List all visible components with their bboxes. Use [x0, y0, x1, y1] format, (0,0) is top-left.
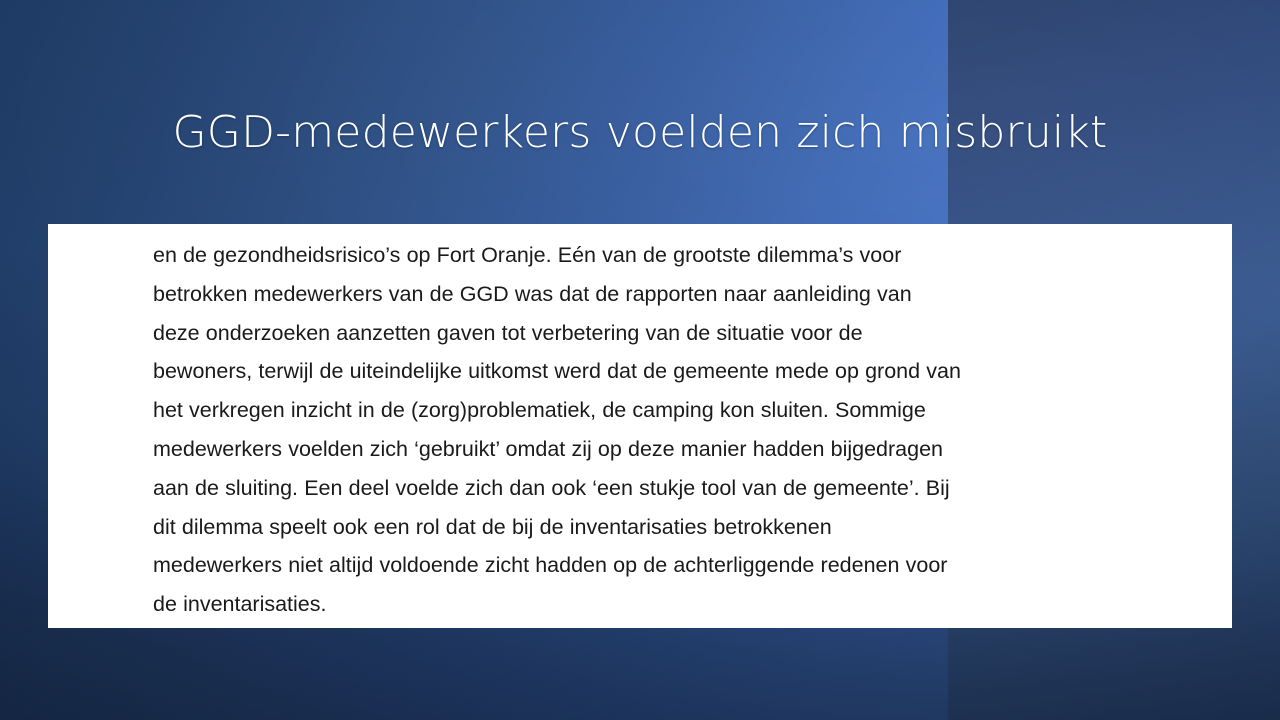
slide-title: GGD-medewerkers voelden zich misbruikt	[173, 109, 1108, 157]
slide-title-area: GGD-medewerkers voelden zich misbruikt	[0, 96, 1280, 170]
body-line: de inventarisaties.	[153, 585, 1214, 624]
body-line: het verkregen inzicht in de (zorg)proble…	[153, 391, 1214, 430]
body-line: betrokken medewerkers van de GGD was dat…	[153, 275, 1214, 314]
body-line: medewerkers niet altijd voldoende zicht …	[153, 546, 1214, 585]
content-card: en de gezondheidsrisico’s op Fort Oranje…	[48, 224, 1232, 628]
body-line: en de gezondheidsrisico’s op Fort Oranje…	[153, 236, 1214, 275]
body-text-block: en de gezondheidsrisico’s op Fort Oranje…	[48, 236, 1232, 624]
presentation-slide: GGD-medewerkers voelden zich misbruikt e…	[0, 0, 1280, 720]
body-line: bewoners, terwijl de uiteindelijke uitko…	[153, 352, 1214, 391]
body-line: dit dilemma speelt ook een rol dat de bi…	[153, 508, 1214, 547]
body-line: medewerkers voelden zich ‘gebruikt’ omda…	[153, 430, 1214, 469]
body-line: aan de sluiting. Een deel voelde zich da…	[153, 469, 1214, 508]
body-line: deze onderzoeken aanzetten gaven tot ver…	[153, 314, 1214, 353]
